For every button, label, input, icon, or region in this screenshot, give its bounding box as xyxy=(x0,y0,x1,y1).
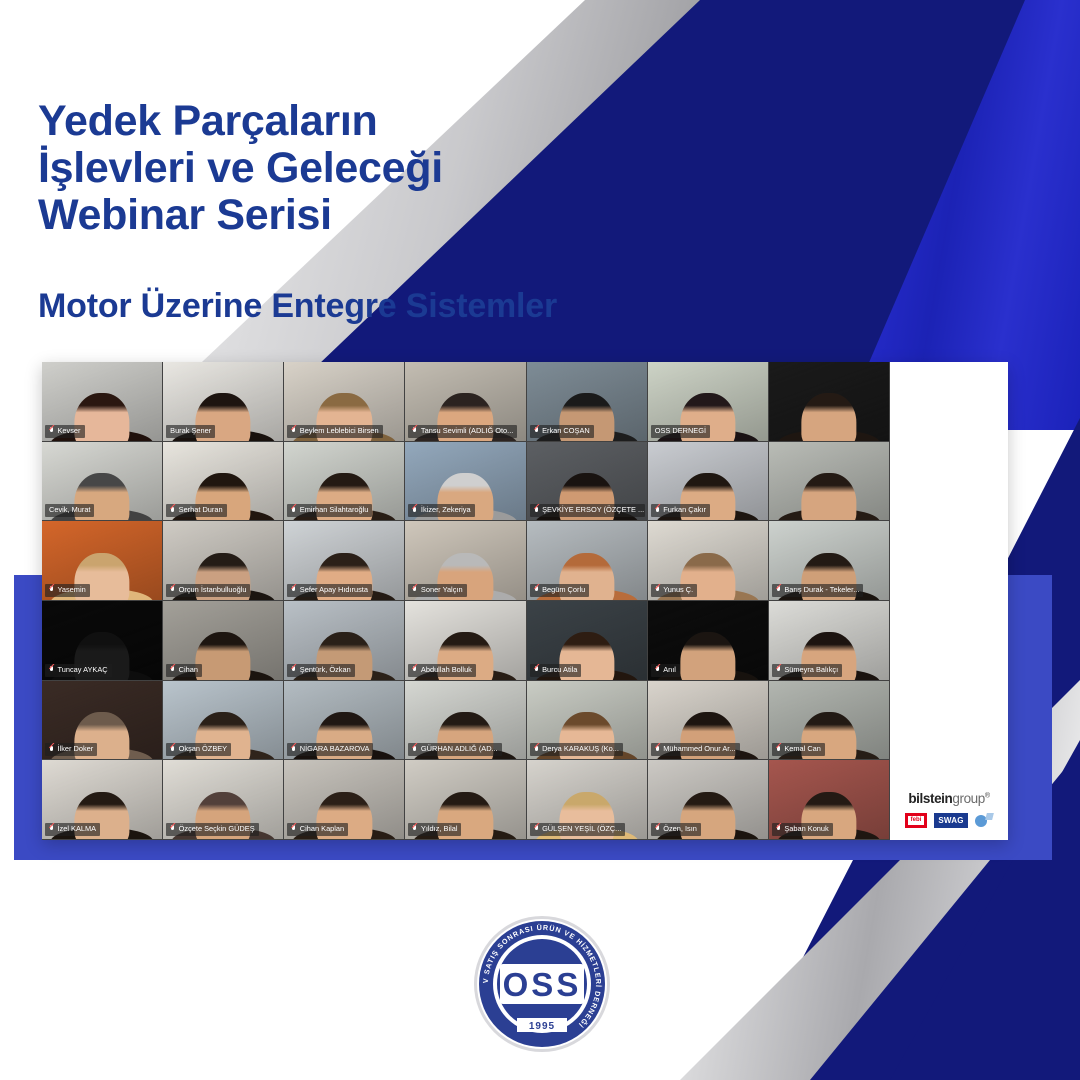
participant-tile[interactable]: Sefer Apay Hıdırusta xyxy=(284,521,405,601)
participant-tile[interactable]: Anıl xyxy=(648,601,769,681)
participant-name-label: Yunus Ç. xyxy=(651,584,698,597)
participant-name-label: Yasemin xyxy=(45,584,90,597)
participant-name-label: Burcu Atila xyxy=(530,664,582,677)
participant-name-label: Yıldız, Bilal xyxy=(408,823,461,836)
participant-name-label: Tuncay AYKAÇ xyxy=(45,664,112,677)
participant-name-text: Yasemin xyxy=(58,585,86,595)
participant-name-text: GÜLŞEN YEŞİL (ÖZÇ... xyxy=(542,824,621,834)
mic-muted-icon xyxy=(776,586,782,594)
mic-muted-icon xyxy=(170,586,176,594)
mic-muted-icon xyxy=(49,666,55,674)
participant-name-label: Cihan Kaplan xyxy=(287,823,348,836)
participant-name-text: Yunus Ç. xyxy=(663,585,693,595)
title-block: Yedek Parçaların İşlevleri ve Geleceği W… xyxy=(38,98,678,325)
page-title: Yedek Parçaların İşlevleri ve Geleceği W… xyxy=(38,98,678,239)
participant-name-text: Beylem Leblebici Birsen xyxy=(300,426,379,436)
participant-tile[interactable]: ŞEVKİYE ERSOY (ÖZÇETE ... xyxy=(527,442,648,522)
poster-canvas: Yedek Parçaların İşlevleri ve Geleceği W… xyxy=(0,0,1080,1080)
febi-label: febi xyxy=(908,816,924,825)
mic-muted-icon xyxy=(655,745,661,753)
participant-name-label: Cihan xyxy=(166,664,202,677)
mic-muted-icon xyxy=(776,825,782,833)
participant-tile[interactable]: Şentürk, Özkan xyxy=(284,601,405,681)
participant-tile[interactable]: Barış Durak - Tekeler... xyxy=(769,521,890,601)
mic-muted-icon xyxy=(291,506,297,514)
participant-name-text: Abdullah Bolluk xyxy=(421,665,472,675)
mic-muted-icon xyxy=(412,825,418,833)
participant-head xyxy=(196,632,251,680)
participant-tile[interactable]: GÜLŞEN YEŞİL (ÖZÇ... xyxy=(527,760,648,840)
participant-name-text: Şentürk, Özkan xyxy=(300,665,351,675)
participant-name-label: Abdullah Bolluk xyxy=(408,664,475,677)
participant-tile[interactable]: Soner Yalçın xyxy=(405,521,526,601)
participant-tile[interactable]: Özçete Seçkin GÜDEŞ xyxy=(163,760,284,840)
participant-name-label: Mühammed Onur Ar... xyxy=(651,743,740,756)
participant-tile[interactable]: Şaban Konuk xyxy=(769,760,890,840)
participant-tile[interactable]: Mühammed Onur Ar... xyxy=(648,681,769,761)
participant-tile[interactable]: Orçun İstanbulluoğlu xyxy=(163,521,284,601)
participant-name-text: Yıldız, Bilal xyxy=(421,824,458,834)
participant-tile[interactable]: Beylem Leblebici Birsen xyxy=(284,362,405,442)
mic-muted-icon xyxy=(170,745,176,753)
participant-name-text: Şaban Konuk xyxy=(784,824,828,834)
participant-name-label: Özçete Seçkin GÜDEŞ xyxy=(166,823,259,836)
participant-name-label: Soner Yalçın xyxy=(408,584,466,597)
participant-name-label: Şaban Konuk xyxy=(772,823,833,836)
mic-muted-icon xyxy=(655,825,661,833)
participant-name-text: İlker Doker xyxy=(58,744,94,754)
participant-name-label: Özen, Isın xyxy=(651,823,701,836)
participant-tile[interactable]: Cihan Kaplan xyxy=(284,760,405,840)
sub-brand-row: febi SWAG xyxy=(890,813,1008,828)
participant-tile[interactable]: Burcu Atila xyxy=(527,601,648,681)
participant-tile[interactable]: İzel KALMA xyxy=(42,760,163,840)
participant-tile[interactable]: Cevik, Murat xyxy=(42,442,163,522)
febi-logo-icon: febi xyxy=(905,813,927,828)
participant-name-text: Emirhan Silahtaroğlu xyxy=(300,505,369,515)
participant-tile[interactable]: Cihan xyxy=(163,601,284,681)
mic-muted-icon xyxy=(49,427,55,435)
participant-name-label: Cevik, Murat xyxy=(45,504,94,517)
participant-video-feed xyxy=(769,362,889,441)
participant-name-label: Şentürk, Özkan xyxy=(287,664,354,677)
participant-name-text: Erkan COŞAN xyxy=(542,426,590,436)
mic-muted-icon xyxy=(655,666,661,674)
mic-muted-icon xyxy=(534,427,540,435)
mic-muted-icon xyxy=(412,506,418,514)
participant-name-text: Kevser xyxy=(58,426,81,436)
mic-muted-icon xyxy=(534,586,540,594)
mic-muted-icon xyxy=(655,586,661,594)
page-subtitle: Motor Üzerine Entegre Sistemler xyxy=(38,287,678,325)
blueprint-logo-icon xyxy=(975,813,993,828)
participant-grid: KevserBurak ŞenerBeylem Leblebici Birsen… xyxy=(42,362,890,840)
mic-muted-icon xyxy=(170,506,176,514)
participant-head xyxy=(801,393,856,441)
mic-muted-icon xyxy=(49,586,55,594)
participant-name-text: OSS DERNEGİ xyxy=(655,426,706,436)
participant-name-text: Derya KARAKUŞ (Ko... xyxy=(542,744,619,754)
participant-name-label: Furkan Çakır xyxy=(651,504,710,517)
participant-tile[interactable]: Yıldız, Bilal xyxy=(405,760,526,840)
participant-name-label: Begüm Çorlu xyxy=(530,584,590,597)
participant-name-text: ŞEVKİYE ERSOY (ÖZÇETE ... xyxy=(542,505,644,515)
participant-name-text: Barış Durak - Tekeler... xyxy=(784,585,859,595)
participant-tile[interactable]: Sümeyra Balıkçı xyxy=(769,601,890,681)
participant-video-feed xyxy=(769,442,889,521)
participant-name-text: Serhat Duran xyxy=(179,505,223,515)
bilstein-group-wordmark: bilsteingroup® xyxy=(890,791,1008,806)
participant-tile[interactable]: Kemal Can xyxy=(769,681,890,761)
participant-name-text: Soner Yalçın xyxy=(421,585,463,595)
participant-tile[interactable]: İlker Doker xyxy=(42,681,163,761)
participant-name-label: Okşan ÖZBEY xyxy=(166,743,231,756)
participant-tile[interactable]: Özen, Isın xyxy=(648,760,769,840)
mic-muted-icon xyxy=(655,506,661,514)
mic-muted-icon xyxy=(291,825,297,833)
participant-name-text: Anıl xyxy=(663,665,676,675)
participant-name-label: İzel KALMA xyxy=(45,823,100,836)
participant-name-text: Orçun İstanbulluoğlu xyxy=(179,585,247,595)
participant-name-text: Özen, Isın xyxy=(663,824,697,834)
participant-name-text: İzel KALMA xyxy=(58,824,97,834)
sponsor-strip: bilsteingroup® febi SWAG xyxy=(890,362,1008,840)
mic-muted-icon xyxy=(49,745,55,753)
participant-tile[interactable]: Emirhan Silahtaroğlu xyxy=(284,442,405,522)
group-light-text: group xyxy=(952,791,985,806)
participant-tile[interactable]: Abdullah Bolluk xyxy=(405,601,526,681)
participant-tile[interactable]: OSS DERNEGİ xyxy=(648,362,769,442)
mic-muted-icon xyxy=(49,825,55,833)
participant-name-label: Burak Şener xyxy=(166,425,215,438)
oss-year-text: 1995 xyxy=(529,1021,555,1032)
participant-name-text: Cihan xyxy=(179,665,198,675)
participant-tile[interactable] xyxy=(769,362,890,442)
participant-name-label: Derya KARAKUŞ (Ko... xyxy=(530,743,623,756)
participant-name-label: ŞEVKİYE ERSOY (ÖZÇETE ... xyxy=(530,504,645,517)
mic-muted-icon xyxy=(776,745,782,753)
participant-tile[interactable]: Yasemin xyxy=(42,521,163,601)
participant-name-label: GÜLŞEN YEŞİL (ÖZÇ... xyxy=(530,823,626,836)
bilstein-group-logo: bilsteingroup® febi SWAG xyxy=(890,791,1008,828)
participant-tile[interactable]: İkizer, Zekeriya xyxy=(405,442,526,522)
participant-tile[interactable]: Burak Şener xyxy=(163,362,284,442)
participant-name-label: NİGARA BAZAROVA xyxy=(287,743,373,756)
participant-name-label: İkizer, Zekeriya xyxy=(408,504,474,517)
participant-name-text: GÜRHAN ADLIĞ (AD... xyxy=(421,744,498,754)
participant-name-label: Kevser xyxy=(45,425,85,438)
mic-muted-icon xyxy=(170,666,176,674)
bilstein-bold-text: bilstein xyxy=(908,791,952,806)
participant-name-text: Sümeyra Balıkçı xyxy=(784,665,838,675)
mic-muted-icon xyxy=(534,745,540,753)
swag-logo-icon: SWAG xyxy=(934,813,968,828)
mic-muted-icon xyxy=(412,666,418,674)
mic-muted-icon xyxy=(291,666,297,674)
mic-muted-icon xyxy=(170,825,176,833)
participant-name-text: Okşan ÖZBEY xyxy=(179,744,227,754)
mic-muted-icon xyxy=(776,666,782,674)
oss-logo-svg: OSS 1995 OTOMOTİV SATIŞ SONRASI ÜRÜN VE … xyxy=(470,912,614,1056)
participant-tile[interactable]: Yunus Ç. xyxy=(648,521,769,601)
mic-muted-icon xyxy=(291,745,297,753)
participant-tile[interactable]: Kevser xyxy=(42,362,163,442)
participant-name-text: Özçete Seçkin GÜDEŞ xyxy=(179,824,255,834)
participant-name-label: OSS DERNEGİ xyxy=(651,425,710,438)
participant-name-label: Barış Durak - Tekeler... xyxy=(772,584,864,597)
oss-association-logo: OSS 1995 OTOMOTİV SATIŞ SONRASI ÜRÜN VE … xyxy=(470,912,614,1056)
participant-tile[interactable]: Tuncay AYKAÇ xyxy=(42,601,163,681)
participant-tile[interactable]: Serhat Duran xyxy=(163,442,284,522)
participant-name-label: Beylem Leblebici Birsen xyxy=(287,425,382,438)
participant-name-text: Burcu Atila xyxy=(542,665,577,675)
participant-name-label: Orçun İstanbulluoğlu xyxy=(166,584,250,597)
mic-muted-icon xyxy=(291,586,297,594)
participant-tile[interactable]: Okşan ÖZBEY xyxy=(163,681,284,761)
mic-muted-icon xyxy=(534,825,540,833)
participant-name-text: Kemal Can xyxy=(784,744,821,754)
mic-muted-icon xyxy=(412,427,418,435)
participant-name-text: NİGARA BAZAROVA xyxy=(300,744,370,754)
participant-name-label: İlker Doker xyxy=(45,743,97,756)
mic-muted-icon xyxy=(412,745,418,753)
participant-name-label: Serhat Duran xyxy=(166,504,226,517)
participant-name-text: Mühammed Onur Ar... xyxy=(663,744,735,754)
participant-name-text: Tansu Sevimli (ADLIĞ Oto... xyxy=(421,426,513,436)
participant-name-label: Emirhan Silahtaroğlu xyxy=(287,504,372,517)
mic-muted-icon xyxy=(534,506,540,514)
participant-name-text: İkizer, Zekeriya xyxy=(421,505,471,515)
participant-tile[interactable] xyxy=(769,442,890,522)
participant-name-label: Anıl xyxy=(651,664,680,677)
participant-tile[interactable]: Furkan Çakır xyxy=(648,442,769,522)
participant-name-label: Tansu Sevimli (ADLIĞ Oto... xyxy=(408,425,517,438)
participant-tile[interactable]: GÜRHAN ADLIĞ (AD... xyxy=(405,681,526,761)
participant-name-label: Sümeyra Balıkçı xyxy=(772,664,842,677)
participant-name-text: Furkan Çakır xyxy=(663,505,706,515)
participant-name-label: Sefer Apay Hıdırusta xyxy=(287,584,372,597)
participant-head xyxy=(680,632,735,680)
participant-tile[interactable]: NİGARA BAZAROVA xyxy=(284,681,405,761)
participant-name-text: Burak Şener xyxy=(170,426,211,436)
participant-name-text: Tuncay AYKAÇ xyxy=(58,665,108,675)
participant-name-label: Kemal Can xyxy=(772,743,825,756)
participant-head xyxy=(801,473,856,521)
participant-name-text: Begüm Çorlu xyxy=(542,585,585,595)
participant-tile[interactable]: Derya KARAKUŞ (Ko... xyxy=(527,681,648,761)
participant-name-text: Sefer Apay Hıdırusta xyxy=(300,585,368,595)
participant-name-label: Erkan COŞAN xyxy=(530,425,594,438)
oss-center-text: OSS xyxy=(503,966,582,1003)
registered-mark: ® xyxy=(985,793,990,800)
participant-name-text: Cevik, Murat xyxy=(49,505,90,515)
video-conference-panel: KevserBurak ŞenerBeylem Leblebici Birsen… xyxy=(42,362,1008,840)
mic-muted-icon xyxy=(534,666,540,674)
participant-tile[interactable]: Erkan COŞAN xyxy=(527,362,648,442)
mic-muted-icon xyxy=(291,427,297,435)
participant-tile[interactable]: Tansu Sevimli (ADLIĞ Oto... xyxy=(405,362,526,442)
participant-name-text: Cihan Kaplan xyxy=(300,824,344,834)
participant-tile[interactable]: Begüm Çorlu xyxy=(527,521,648,601)
mic-muted-icon xyxy=(412,586,418,594)
participant-name-label: GÜRHAN ADLIĞ (AD... xyxy=(408,743,501,756)
